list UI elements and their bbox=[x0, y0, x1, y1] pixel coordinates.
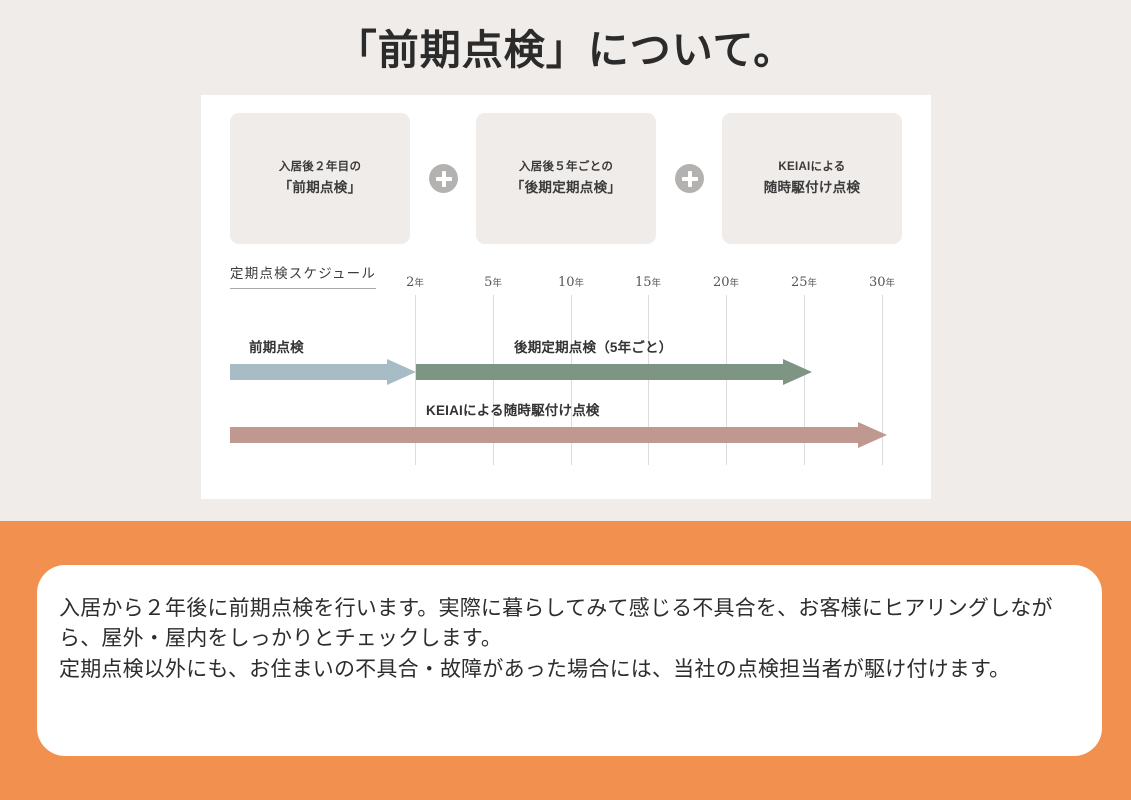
bar-on-demand-inspection bbox=[230, 422, 887, 448]
tick-label-10y: 10年 bbox=[558, 275, 584, 290]
description-card: 入居から２年後に前期点検を行います。実際に暮らしてみて感じる不具合を、お客様にヒ… bbox=[37, 565, 1102, 756]
feature-box-text: 入居後２年目の 「前期点検」 bbox=[279, 158, 362, 199]
tick-unit: 年 bbox=[886, 278, 896, 289]
schedule-timeline: 2年 5年 10年 15年 20年 25年 30年 前期点検 後期定期点検（5年… bbox=[201, 295, 931, 495]
bar-arrowhead bbox=[858, 422, 887, 448]
feature-box-line2: 「前期点検」 bbox=[279, 177, 362, 199]
tick-value: 15 bbox=[635, 275, 652, 290]
bar-shaft bbox=[230, 427, 858, 443]
tick-label-2y: 2年 bbox=[406, 275, 424, 290]
tick-unit: 年 bbox=[414, 278, 424, 289]
schedule-heading: 定期点検スケジュール bbox=[230, 262, 376, 289]
bar-arrowhead bbox=[783, 359, 812, 385]
tick-value: 25 bbox=[791, 275, 808, 290]
tick-unit: 年 bbox=[652, 278, 662, 289]
tick-value: 30 bbox=[869, 275, 886, 290]
bar-label-late-periodic-inspection: 後期定期点検（5年ごと） bbox=[514, 336, 672, 356]
tick-unit: 年 bbox=[492, 278, 502, 289]
feature-boxes-row: 入居後２年目の 「前期点検」 入居後５年ごとの 「後期定期点検」 KEIAIによ… bbox=[230, 113, 902, 244]
description-paragraph-2: 定期点検以外にも、お住まいの不具合・故障があった場合には、当社の点検担当者が駆け… bbox=[59, 655, 1089, 685]
tick-value: 10 bbox=[558, 275, 575, 290]
feature-box-early-inspection[interactable]: 入居後２年目の 「前期点検」 bbox=[230, 113, 410, 244]
feature-box-on-demand-inspection[interactable]: KEIAIによる 随時駆付け点検 bbox=[722, 113, 902, 244]
tick-label-20y: 20年 bbox=[713, 275, 739, 290]
top-section: 「前期点検」について。 入居後２年目の 「前期点検」 入居後５年ごとの 「後期定… bbox=[0, 0, 1131, 521]
plus-icon bbox=[429, 164, 458, 193]
plus-icon bbox=[675, 164, 704, 193]
tick-value: 20 bbox=[713, 275, 730, 290]
feature-box-text: 入居後５年ごとの 「後期定期点検」 bbox=[511, 158, 621, 199]
description-text: 入居から２年後に前期点検を行います。実際に暮らしてみて感じる不具合を、お客様にヒ… bbox=[59, 594, 1089, 685]
feature-box-line1: KEIAIによる bbox=[764, 158, 861, 177]
feature-box-line2: 「後期定期点検」 bbox=[511, 177, 621, 199]
bar-label-early-inspection: 前期点検 bbox=[249, 336, 304, 356]
tick-label-25y: 25年 bbox=[791, 275, 817, 290]
bar-shaft bbox=[416, 364, 783, 380]
feature-box-late-periodic-inspection[interactable]: 入居後５年ごとの 「後期定期点検」 bbox=[476, 113, 656, 244]
tick-unit: 年 bbox=[575, 278, 585, 289]
tick-unit: 年 bbox=[808, 278, 818, 289]
bar-label-on-demand-inspection: KEIAIによる随時駆付け点検 bbox=[426, 399, 600, 419]
bar-late-periodic-inspection bbox=[416, 359, 812, 385]
info-card: 入居後２年目の 「前期点検」 入居後５年ごとの 「後期定期点検」 KEIAIによ… bbox=[201, 95, 931, 499]
tick-unit: 年 bbox=[730, 278, 740, 289]
feature-box-text: KEIAIによる 随時駆付け点検 bbox=[764, 158, 861, 199]
feature-box-line1: 入居後２年目の bbox=[279, 158, 362, 177]
tick-label-5y: 5年 bbox=[484, 275, 502, 290]
bottom-orange-band: 入居から２年後に前期点検を行います。実際に暮らしてみて感じる不具合を、お客様にヒ… bbox=[0, 521, 1131, 800]
bar-arrowhead bbox=[387, 359, 416, 385]
bar-shaft bbox=[230, 364, 387, 380]
feature-box-line1: 入居後５年ごとの bbox=[511, 158, 621, 177]
feature-box-line2: 随時駆付け点検 bbox=[764, 177, 861, 199]
tick-label-15y: 15年 bbox=[635, 275, 661, 290]
description-paragraph-1: 入居から２年後に前期点検を行います。実際に暮らしてみて感じる不具合を、お客様にヒ… bbox=[59, 594, 1089, 655]
bar-early-inspection bbox=[230, 359, 416, 385]
page-title: 「前期点検」について。 bbox=[0, 16, 1131, 76]
tick-label-30y: 30年 bbox=[869, 275, 895, 290]
